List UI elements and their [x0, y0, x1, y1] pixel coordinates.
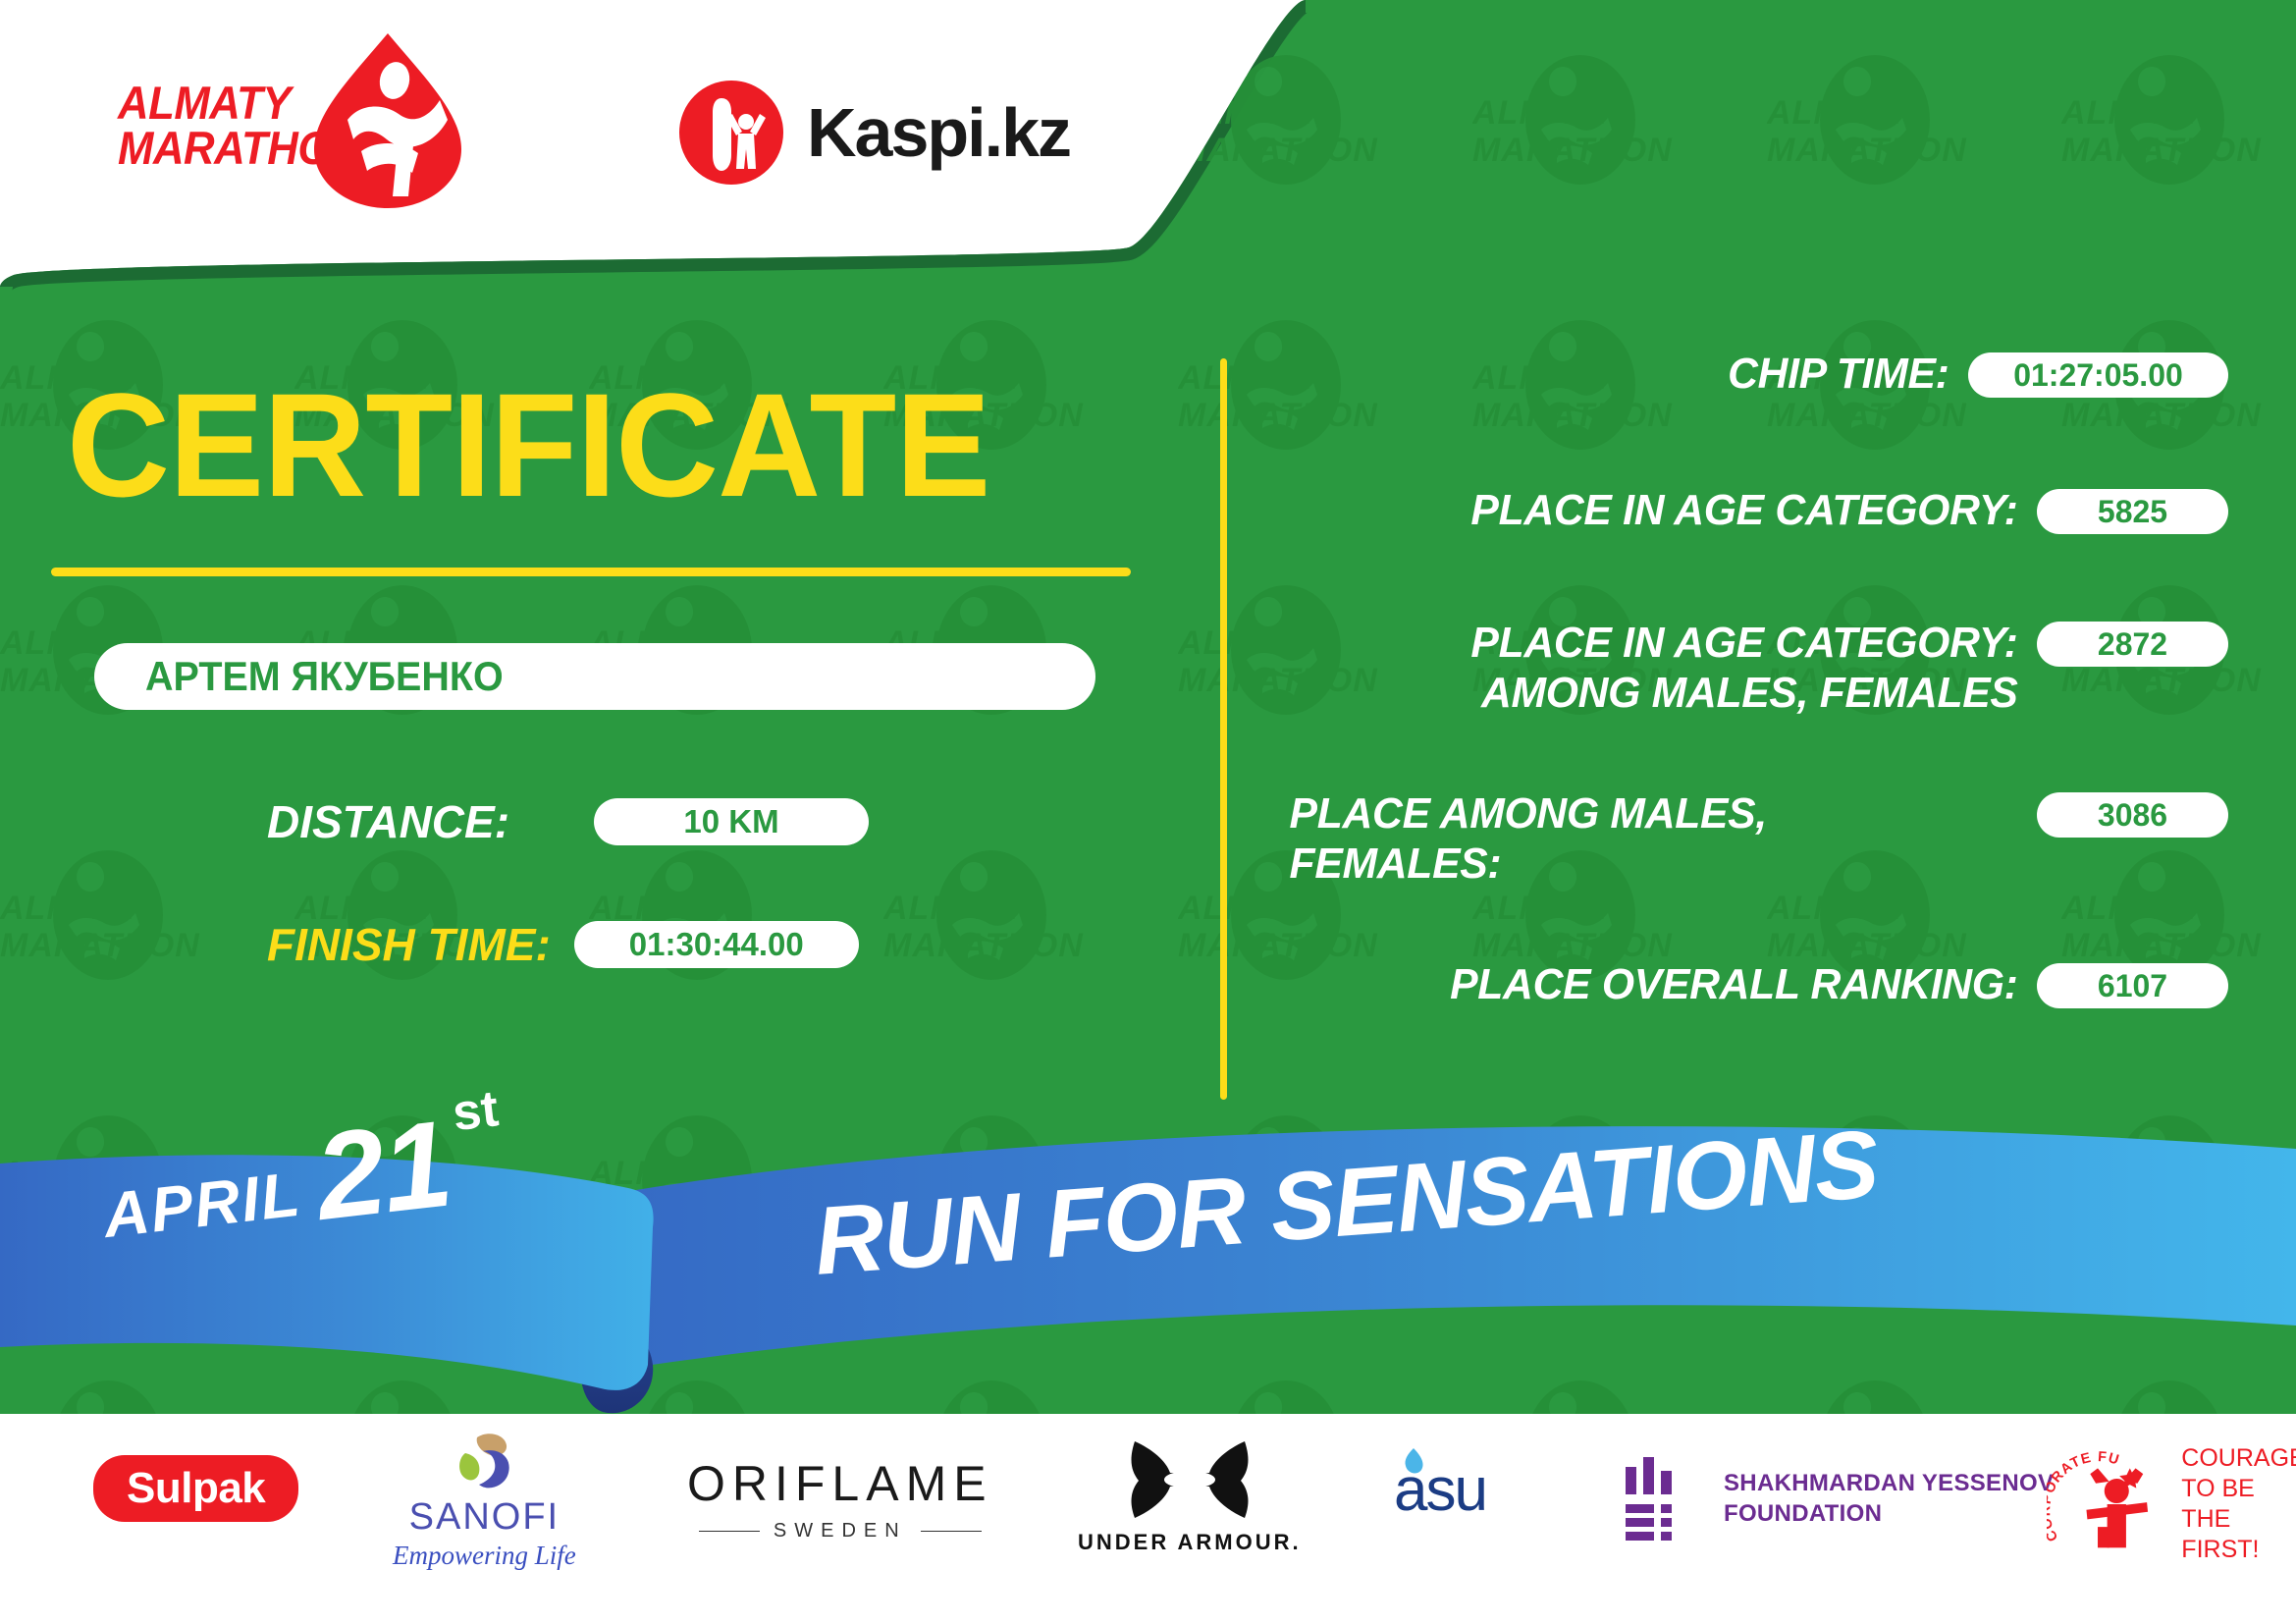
- sponsor-logo-oriflame: ORIFLAME SWEDEN: [687, 1455, 993, 1543]
- participant-name: АРТЕМ ЯКУБЕНКО: [145, 653, 504, 700]
- stat-label: PLACE OVERALL RANKING:: [1290, 959, 2037, 1009]
- ribbon-day: 21: [311, 1114, 454, 1227]
- shakhmardan-wordmark: SHAKHMARDAN YESSENOV FOUNDATION: [1724, 1468, 2054, 1529]
- stat-value: 01:27:05.00: [1968, 352, 2228, 398]
- ribbon-day-suffix: st: [450, 1079, 502, 1143]
- stat-row: CHIP TIME: 01:27:05.00: [1266, 349, 2228, 399]
- finish-time-row: FINISH TIME: 01:30:44.00: [267, 918, 859, 971]
- oriflame-rule-right: [921, 1531, 982, 1533]
- oriflame-sub: SWEDEN: [687, 1520, 993, 1543]
- oriflame-rule-left: [699, 1531, 760, 1533]
- participant-name-plate: АРТЕМ ЯКУБЕНКО: [94, 643, 1095, 710]
- stat-row: PLACE IN AGE CATEGORY: 5825: [1266, 485, 2228, 535]
- stat-value: 2872: [2037, 622, 2228, 667]
- shakhmardan-line1: SHAKHMARDAN YESSENOV: [1724, 1468, 2054, 1498]
- distance-row: DISTANCE: 10 KM: [267, 795, 869, 848]
- certificate-stats-column: CHIP TIME: 01:27:05.00 PLACE IN AGE CATE…: [1266, 349, 2228, 1009]
- under-armour-icon: [1127, 1435, 1253, 1522]
- stat-label: PLACE IN AGE CATEGORY:AMONG MALES, FEMAL…: [1290, 618, 2037, 718]
- finish-time-value: 01:30:44.00: [574, 921, 859, 968]
- sanofi-wordmark: SANOFI: [409, 1496, 560, 1539]
- courage-line3: THE FIRST!: [2181, 1504, 2296, 1565]
- sponsor-logo-sanofi: SANOFI Empowering Life: [393, 1432, 576, 1571]
- courage-runner-icon: CORPORATE FUND: [2047, 1447, 2167, 1561]
- shakhmardan-line2: FOUNDATION: [1724, 1498, 2054, 1529]
- certificate-left-column: CERTIFICATE АРТЕМ ЯКУБЕНКО DISTANCE: 10 …: [0, 0, 1207, 1159]
- sponsor-logo-shakhmardan-foundation: SHAKHMARDAN YESSENOV FOUNDATION: [1620, 1453, 2054, 1543]
- sanofi-tagline: Empowering Life: [393, 1541, 576, 1571]
- stat-value: 5825: [2037, 489, 2228, 534]
- oriflame-wordmark: ORIFLAME: [687, 1455, 993, 1512]
- certificate-page: ALMATY MARATHON ALMATY MARATHON: [0, 0, 2296, 1624]
- page-title: CERTIFICATE: [67, 371, 989, 518]
- stat-row: PLACE IN AGE CATEGORY:AMONG MALES, FEMAL…: [1266, 618, 2228, 718]
- stat-value: 6107: [2037, 963, 2228, 1008]
- under-armour-wordmark: UNDER ARMOUR.: [1078, 1530, 1302, 1555]
- sponsor-logo-sulpak: Sulpak: [93, 1455, 298, 1522]
- shakhmardan-mark-icon: [1620, 1453, 1698, 1543]
- stat-label: PLACE AMONG MALES,FEMALES:: [1290, 788, 2037, 889]
- courage-line1: COURAGE: [2181, 1443, 2296, 1474]
- stat-row: PLACE OVERALL RANKING: 6107: [1266, 959, 2228, 1009]
- stat-label: CHIP TIME:: [1287, 349, 1968, 399]
- courage-wordmark: COURAGE TO BE THE FIRST!: [2181, 1443, 2296, 1565]
- stat-label: PLACE IN AGE CATEGORY:: [1290, 485, 2037, 535]
- vertical-divider: [1220, 358, 1227, 1100]
- sanofi-mark-icon: [444, 1432, 524, 1492]
- sponsor-logo-asu: asu: [1364, 1455, 1486, 1525]
- sulpak-wordmark: Sulpak: [93, 1455, 298, 1522]
- sponsor-logo-under-armour: UNDER ARMOUR.: [1078, 1435, 1302, 1555]
- distance-label: DISTANCE:: [267, 795, 509, 848]
- sponsor-footer: Sulpak SANOFI Empowering Life ORIFLAME S…: [0, 1414, 2296, 1624]
- stat-value: 3086: [2037, 792, 2228, 838]
- asu-droplet-icon: [1398, 1446, 1427, 1484]
- oriflame-country: SWEDEN: [774, 1520, 907, 1543]
- finish-time-label: FINISH TIME:: [267, 918, 551, 971]
- distance-value: 10 KM: [594, 798, 869, 845]
- courage-line2: TO BE: [2181, 1474, 2296, 1504]
- stat-row: PLACE AMONG MALES,FEMALES: 3086: [1266, 788, 2228, 889]
- title-underline-rule: [51, 568, 1131, 576]
- sponsor-logo-courage-fund: CORPORATE FUND COURAGE TO BE THE FIRST!: [2047, 1443, 2296, 1565]
